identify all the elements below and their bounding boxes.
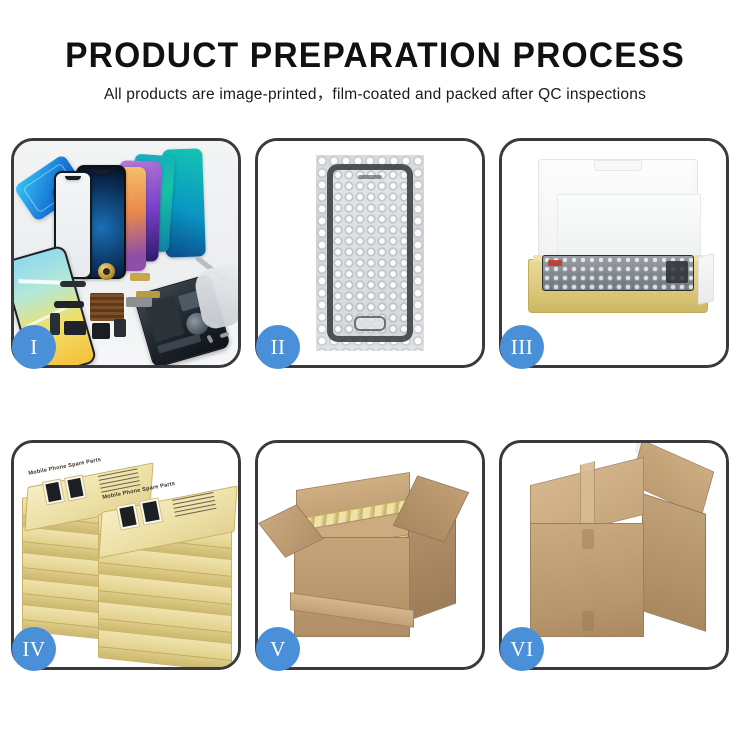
kraft-box-graphic	[528, 159, 706, 323]
step-badge-6: VI	[500, 627, 544, 671]
step-badge-3: III	[500, 325, 544, 369]
carton-seam-graphic	[582, 529, 594, 549]
product-preparation-infographic: PRODUCT PREPARATION PROCESS All products…	[0, 0, 750, 750]
notch-graphic	[65, 176, 81, 180]
page-title: PRODUCT PREPARATION PROCESS	[15, 0, 735, 76]
speaker-part-graphic	[92, 323, 110, 339]
steps-grid: I II	[11, 138, 739, 678]
bracket-part-graphic	[126, 297, 152, 307]
module-part-graphic	[64, 321, 86, 335]
step-badge-4: IV	[12, 627, 56, 671]
connector-part-graphic	[130, 273, 150, 281]
copper-coil-part-graphic	[98, 263, 115, 280]
page-subtitle: All products are image-printed，film-coat…	[0, 76, 750, 105]
step-panel-2: II	[255, 138, 485, 368]
box-flap-graphic	[698, 253, 714, 304]
step-panel-3: III	[499, 138, 729, 368]
open-carton-graphic	[284, 485, 460, 639]
sim-tray-part-graphic	[50, 313, 60, 335]
earpiece-graphic	[358, 175, 382, 179]
notch-graphic	[93, 170, 109, 174]
step-panel-5: V	[255, 440, 485, 670]
battery-part-graphic	[114, 319, 126, 337]
carton-seam-graphic	[582, 611, 594, 631]
flex-cable-part-graphic	[60, 281, 86, 287]
step-badge-2: II	[256, 325, 300, 369]
flex-cable-part-graphic	[54, 301, 84, 308]
step-panel-4: Mobile Phone Spare Parts Mobile Phone Sp…	[11, 440, 241, 670]
step-badge-1: I	[12, 325, 56, 369]
bubble-wrap-graphic	[316, 155, 424, 351]
packed-screen-graphic	[542, 255, 694, 291]
home-button-graphic	[354, 316, 386, 331]
chip-array-part-graphic	[90, 293, 124, 321]
wrapped-screen-graphic	[327, 164, 413, 342]
carton-side-graphic	[642, 493, 706, 632]
box-lid-graphic	[538, 159, 698, 265]
step-panel-1: I	[11, 138, 241, 368]
box-stack-graphic: Mobile Phone Spare Parts Mobile Phone Sp…	[22, 465, 236, 655]
sealed-carton-graphic	[524, 469, 710, 643]
foam-padding-graphic	[557, 194, 701, 262]
header: PRODUCT PREPARATION PROCESS All products…	[0, 0, 750, 105]
step-badge-5: V	[256, 627, 300, 671]
packing-tape-graphic	[580, 461, 595, 531]
step-panel-6: VI	[499, 440, 729, 670]
